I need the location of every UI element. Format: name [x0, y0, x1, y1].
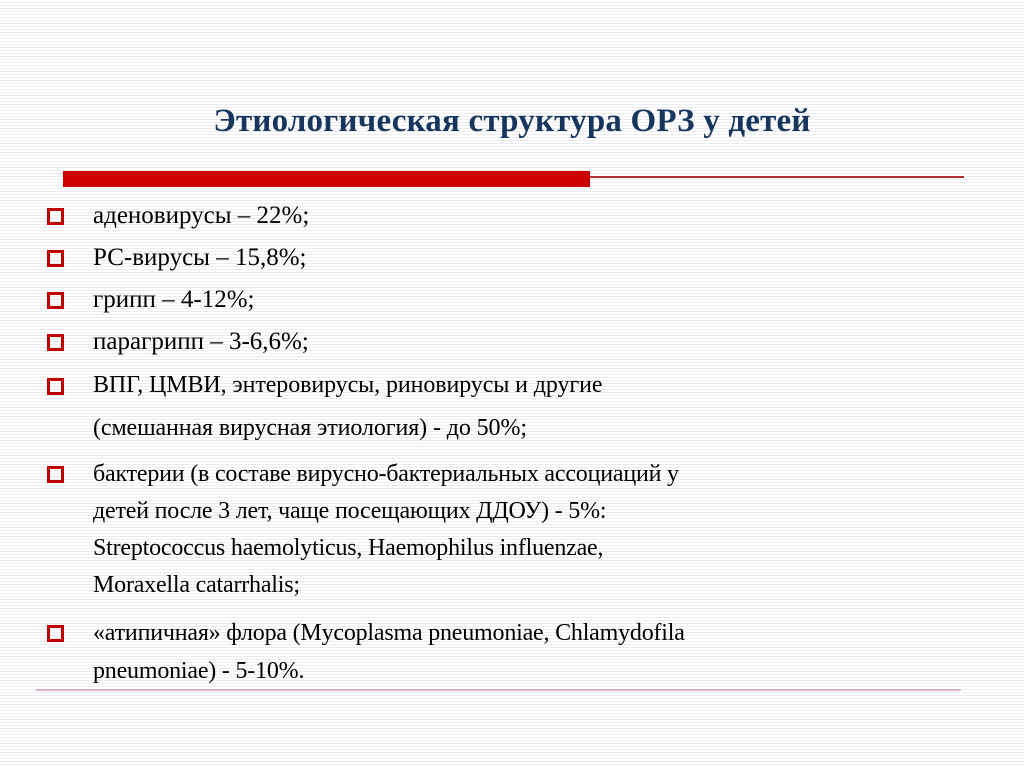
list-item-line: аденовирусы – 22%;: [93, 196, 994, 236]
list-item-line: (смешанная вирусная этиология) - до 50%;: [93, 407, 994, 450]
title-rule-thick-bar: [63, 171, 590, 187]
square-bullet-icon: [47, 334, 64, 351]
square-bullet-icon: [47, 292, 64, 309]
list-item: РС-вирусы – 15,8%;: [0, 238, 1024, 278]
list-item-line: ВПГ, ЦМВИ, энтеровирусы, риновирусы и др…: [93, 364, 994, 407]
list-item: бактерии (в составе вирусно-бактериальны…: [0, 456, 1024, 604]
bullet-list: аденовирусы – 22%; РС-вирусы – 15,8%; гр…: [0, 196, 1024, 690]
slide-canvas: Этиологическая структура ОРЗ у детей аде…: [0, 0, 1024, 767]
list-item: грипп – 4-12%;: [0, 280, 1024, 320]
list-item-line: «атипичная» флора (Mycoplasma pneumoniae…: [93, 614, 994, 652]
square-bullet-icon: [47, 250, 64, 267]
list-item-line: детей после 3 лет, чаще посещающих ДДОУ)…: [93, 493, 994, 530]
list-item-line: бактерии (в составе вирусно-бактериальны…: [93, 456, 994, 493]
list-item: парагрипп – 3-6,6%;: [0, 322, 1024, 362]
list-item-line: грипп – 4-12%;: [93, 280, 994, 320]
list-item: «атипичная» флора (Mycoplasma pneumoniae…: [0, 614, 1024, 690]
bottom-divider-rule: [36, 689, 961, 691]
list-item-line: Moraxella catarrhalis;: [93, 567, 994, 604]
title-underline-rule: [0, 171, 1024, 189]
square-bullet-icon: [47, 378, 64, 395]
list-item-line: Streptococcus haemolyticus, Haemophilus …: [93, 530, 994, 567]
list-item: аденовирусы – 22%;: [0, 196, 1024, 236]
page-title: Этиологическая структура ОРЗ у детей: [0, 101, 1024, 141]
list-item-line: pneumoniae) - 5-10%.: [93, 652, 994, 690]
square-bullet-icon: [47, 208, 64, 225]
list-item-line: парагрипп – 3-6,6%;: [93, 322, 994, 362]
square-bullet-icon: [47, 466, 64, 483]
list-item-line: РС-вирусы – 15,8%;: [93, 238, 994, 278]
list-item: ВПГ, ЦМВИ, энтеровирусы, риновирусы и др…: [0, 364, 1024, 450]
square-bullet-icon: [47, 625, 64, 642]
